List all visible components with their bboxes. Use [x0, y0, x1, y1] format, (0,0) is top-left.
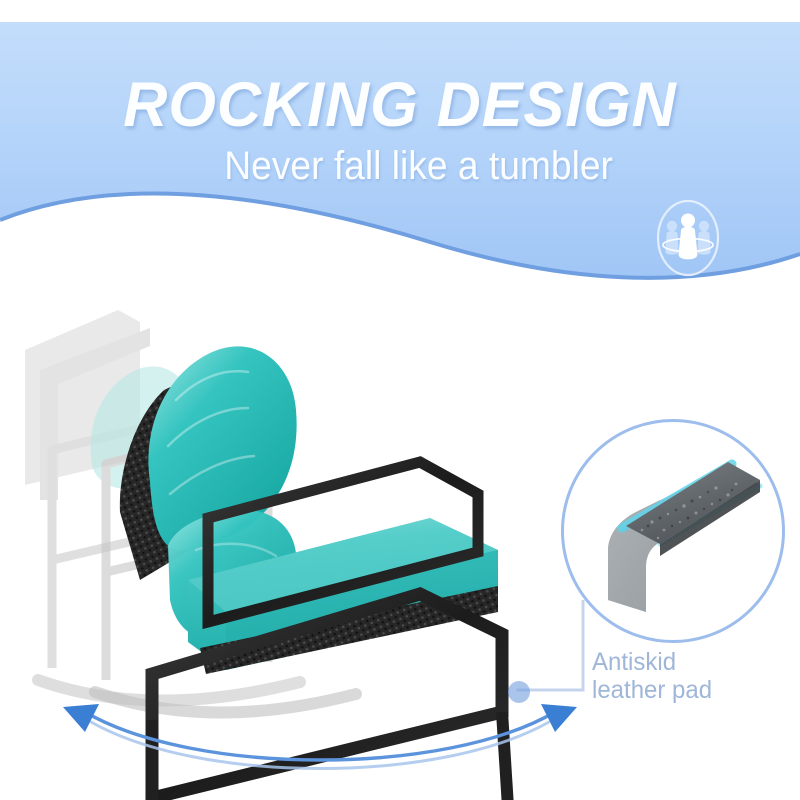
antiskid-pad-label: Antiskid leather pad	[592, 648, 712, 704]
infographic-canvas: ROCKING DESIGN Never fall like a tumbler	[0, 0, 800, 800]
page-subtitle: Never fall like a tumbler	[28, 146, 772, 186]
page-title: ROCKING DESIGN	[12, 74, 788, 137]
rocking-motion-arc	[55, 690, 585, 785]
